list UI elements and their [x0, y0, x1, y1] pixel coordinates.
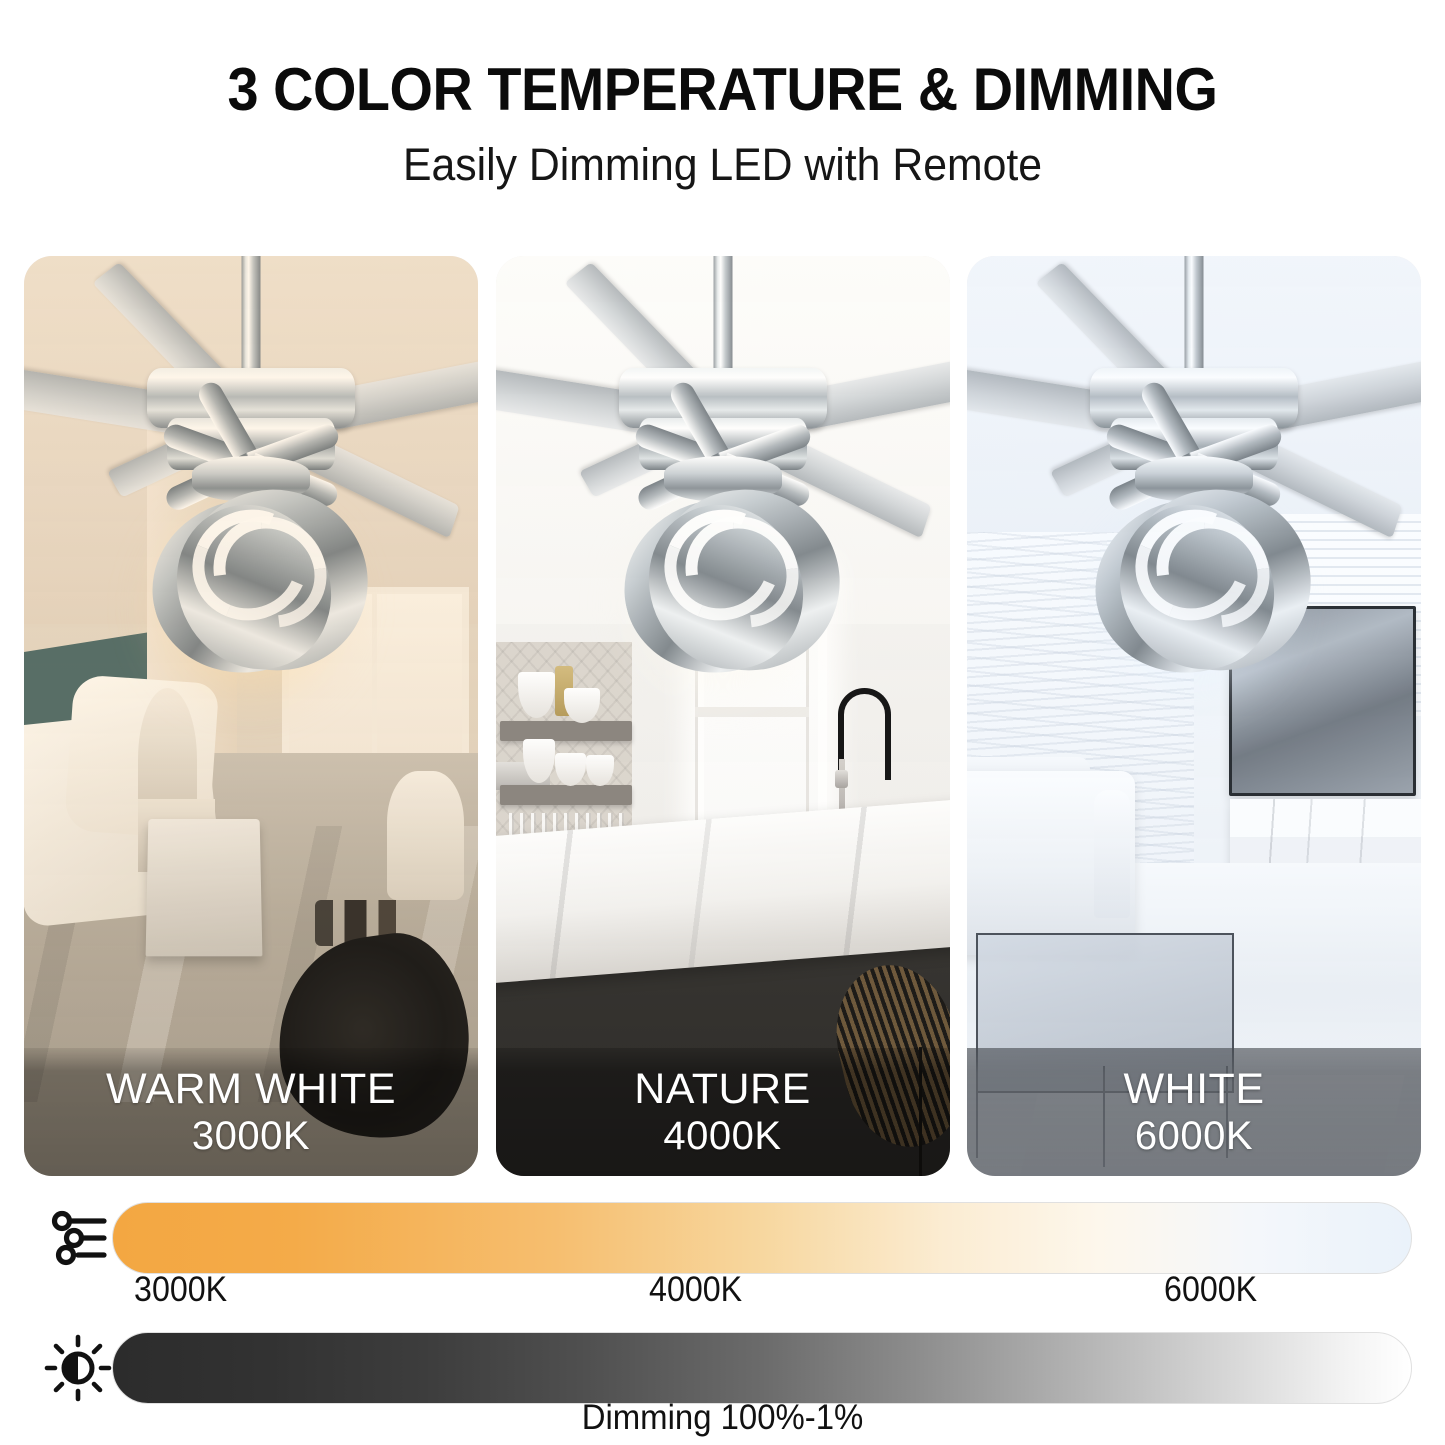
panel-warm-white[interactable]: WARM WHITE 3000K [24, 256, 478, 1176]
window-sash [695, 707, 809, 717]
bedroom-scene [24, 256, 478, 1176]
sliders-icon [44, 1204, 112, 1272]
caption-temperature: 6000K [1135, 1116, 1253, 1158]
tick-3000k: 3000K [134, 1270, 227, 1310]
laptop [145, 819, 261, 956]
kitchen-scene [496, 256, 950, 1176]
led-glow [141, 506, 361, 706]
scales: 3000K 4000K 6000K [0, 1196, 1445, 1434]
dimming-scale: Dimming 100%-1% [0, 1326, 1445, 1434]
page-title: 3 COLOR TEMPERATURE & DIMMING [51, 58, 1395, 121]
faucet-body [835, 770, 848, 789]
dimming-label: Dimming 100%-1% [43, 1398, 1401, 1438]
tick-6000k: 6000K [1164, 1270, 1257, 1310]
panel-nature[interactable]: NATURE 4000K [496, 256, 950, 1176]
color-temperature-bar[interactable] [112, 1202, 1412, 1274]
open-shelf [500, 721, 632, 741]
color-temperature-scale: 3000K 4000K 6000K [0, 1196, 1445, 1304]
dimming-bar[interactable] [112, 1332, 1412, 1404]
open-shelf [500, 785, 632, 805]
panel-white[interactable]: WHITE 6000K [967, 256, 1421, 1176]
page-subtitle: Easily Dimming LED with Remote [36, 139, 1409, 191]
led-glow [613, 506, 833, 706]
led-glow [1084, 506, 1304, 706]
faucet-arc [838, 688, 891, 780]
accent-chair [387, 771, 464, 900]
caption-name: WARM WHITE [106, 1067, 396, 1112]
caption-name: NATURE [634, 1067, 811, 1112]
tick-4000k: 4000K [649, 1270, 742, 1310]
panel-caption-white: WHITE 6000K [967, 1048, 1421, 1176]
caption-name: WHITE [1123, 1067, 1264, 1112]
color-temperature-ticks: 3000K 4000K 6000K [0, 1270, 1445, 1312]
brightness-icon [44, 1334, 112, 1402]
panel-row: WARM WHITE 3000K [24, 256, 1421, 1176]
panel-caption-warm-white: WARM WHITE 3000K [24, 1048, 478, 1176]
living-room-scene [967, 256, 1421, 1176]
caption-temperature: 3000K [192, 1116, 310, 1158]
caption-temperature: 4000K [663, 1116, 781, 1158]
panel-caption-nature: NATURE 4000K [496, 1048, 950, 1176]
header: 3 COLOR TEMPERATURE & DIMMING Easily Dim… [0, 0, 1445, 191]
sofa-armrest [1094, 790, 1130, 919]
